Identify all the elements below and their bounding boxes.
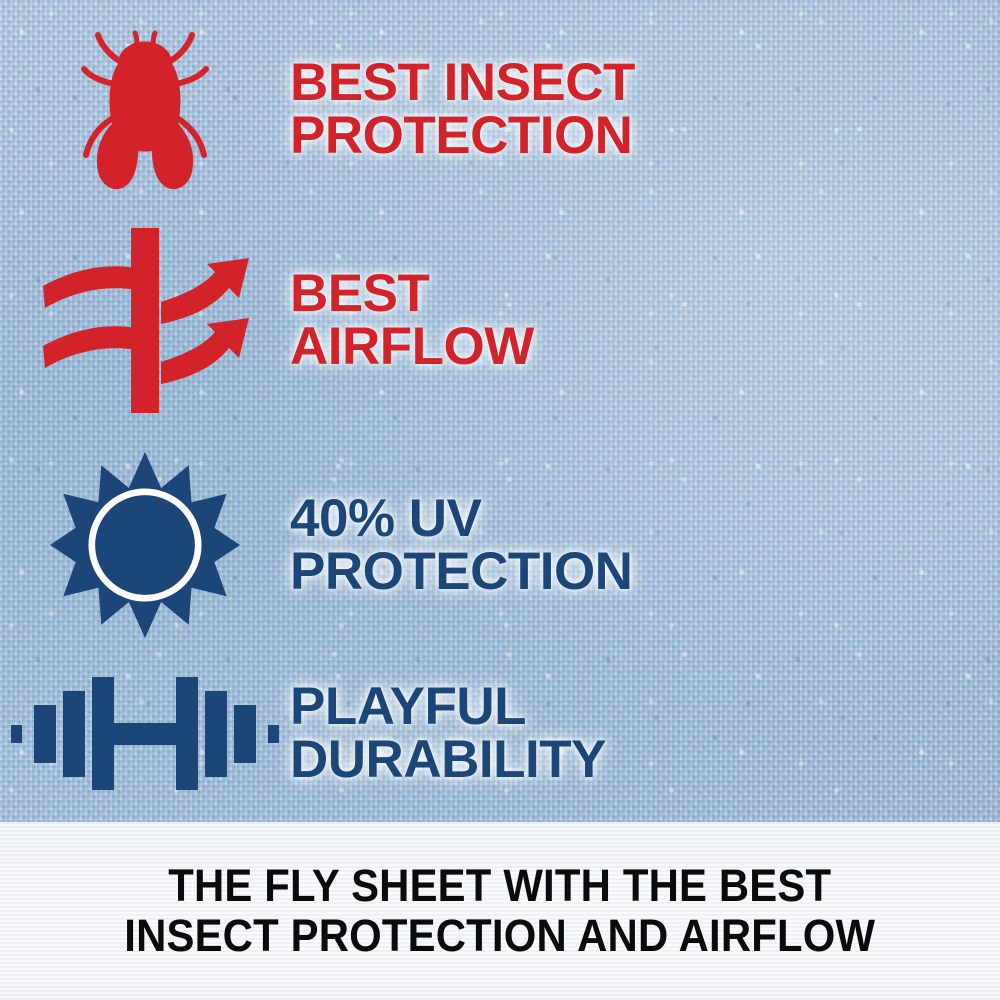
airflow-icon-cell <box>0 225 290 415</box>
product-feature-infographic: BEST INSECT PROTECTION BEST AIRFLO <box>0 0 1000 1000</box>
caption-text: THE FLY SHEET WITH THE BEST INSECT PROTE… <box>125 861 876 962</box>
barbell-icon <box>11 673 279 793</box>
airflow-arrows-icon <box>35 228 255 413</box>
feature-label-insect-protection: BEST INSECT PROTECTION <box>290 56 635 162</box>
feature-row-durability: PLAYFUL DURABILITY <box>0 645 1000 820</box>
feature-row-insect-protection: BEST INSECT PROTECTION <box>0 14 1000 204</box>
feature-row-uv-protection: 40% UV PROTECTION <box>0 445 1000 645</box>
feature-label-airflow: BEST AIRFLOW <box>290 267 534 373</box>
sun-icon-cell <box>0 445 290 645</box>
feature-label-uv-protection: 40% UV PROTECTION <box>290 492 632 598</box>
caption-band: THE FLY SHEET WITH THE BEST INSECT PROTE… <box>0 822 1000 1000</box>
fly-icon <box>70 19 220 199</box>
sun-icon <box>50 450 240 640</box>
feature-label-durability: PLAYFUL DURABILITY <box>290 680 606 786</box>
feature-row-airflow: BEST AIRFLOW <box>0 225 1000 415</box>
barbell-icon-cell <box>0 645 290 820</box>
fly-icon-cell <box>0 14 290 204</box>
